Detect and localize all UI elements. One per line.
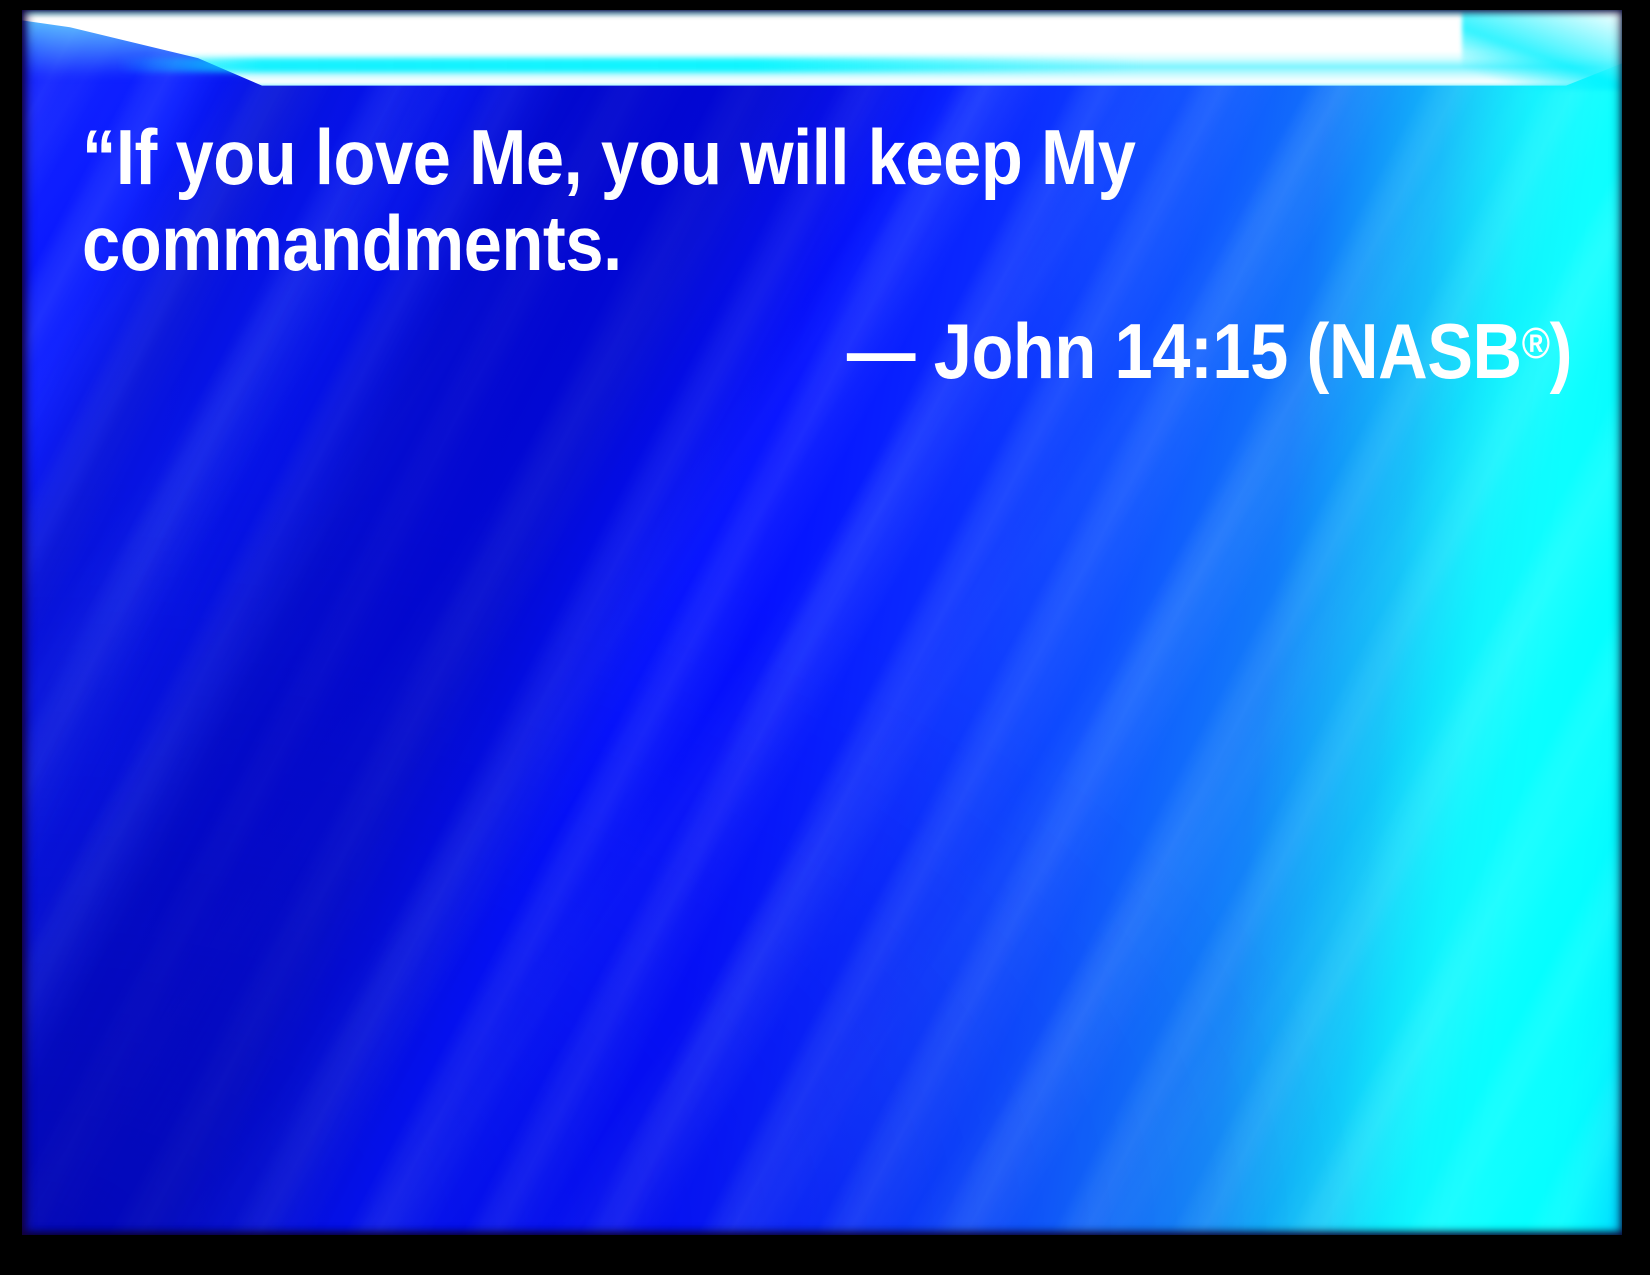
- attribution-em-dash: —: [847, 307, 915, 395]
- registered-trademark-icon: ®: [1522, 319, 1550, 368]
- highlight-bar-right-cap: [1462, 10, 1622, 90]
- verse-line-2: commandments.: [82, 200, 1393, 286]
- verse-text-block: “If you love Me, you will keep My comman…: [82, 114, 1572, 397]
- highlight-bar-cyan-streak: [118, 58, 1142, 72]
- attribution-translation-close: ): [1550, 307, 1572, 395]
- scripture-slide: “If you love Me, you will keep My comman…: [0, 0, 1650, 1275]
- verse-line-1: “If you love Me, you will keep My: [82, 114, 1393, 200]
- verse-attribution: — John 14:15 (NASB®): [261, 298, 1572, 397]
- highlight-bar-body: [22, 10, 1622, 96]
- top-highlight-bar: [22, 10, 1622, 96]
- slide-canvas: “If you love Me, you will keep My comman…: [22, 10, 1622, 1235]
- attribution-translation-open: (NASB: [1307, 307, 1522, 395]
- attribution-reference: John 14:15: [934, 307, 1288, 395]
